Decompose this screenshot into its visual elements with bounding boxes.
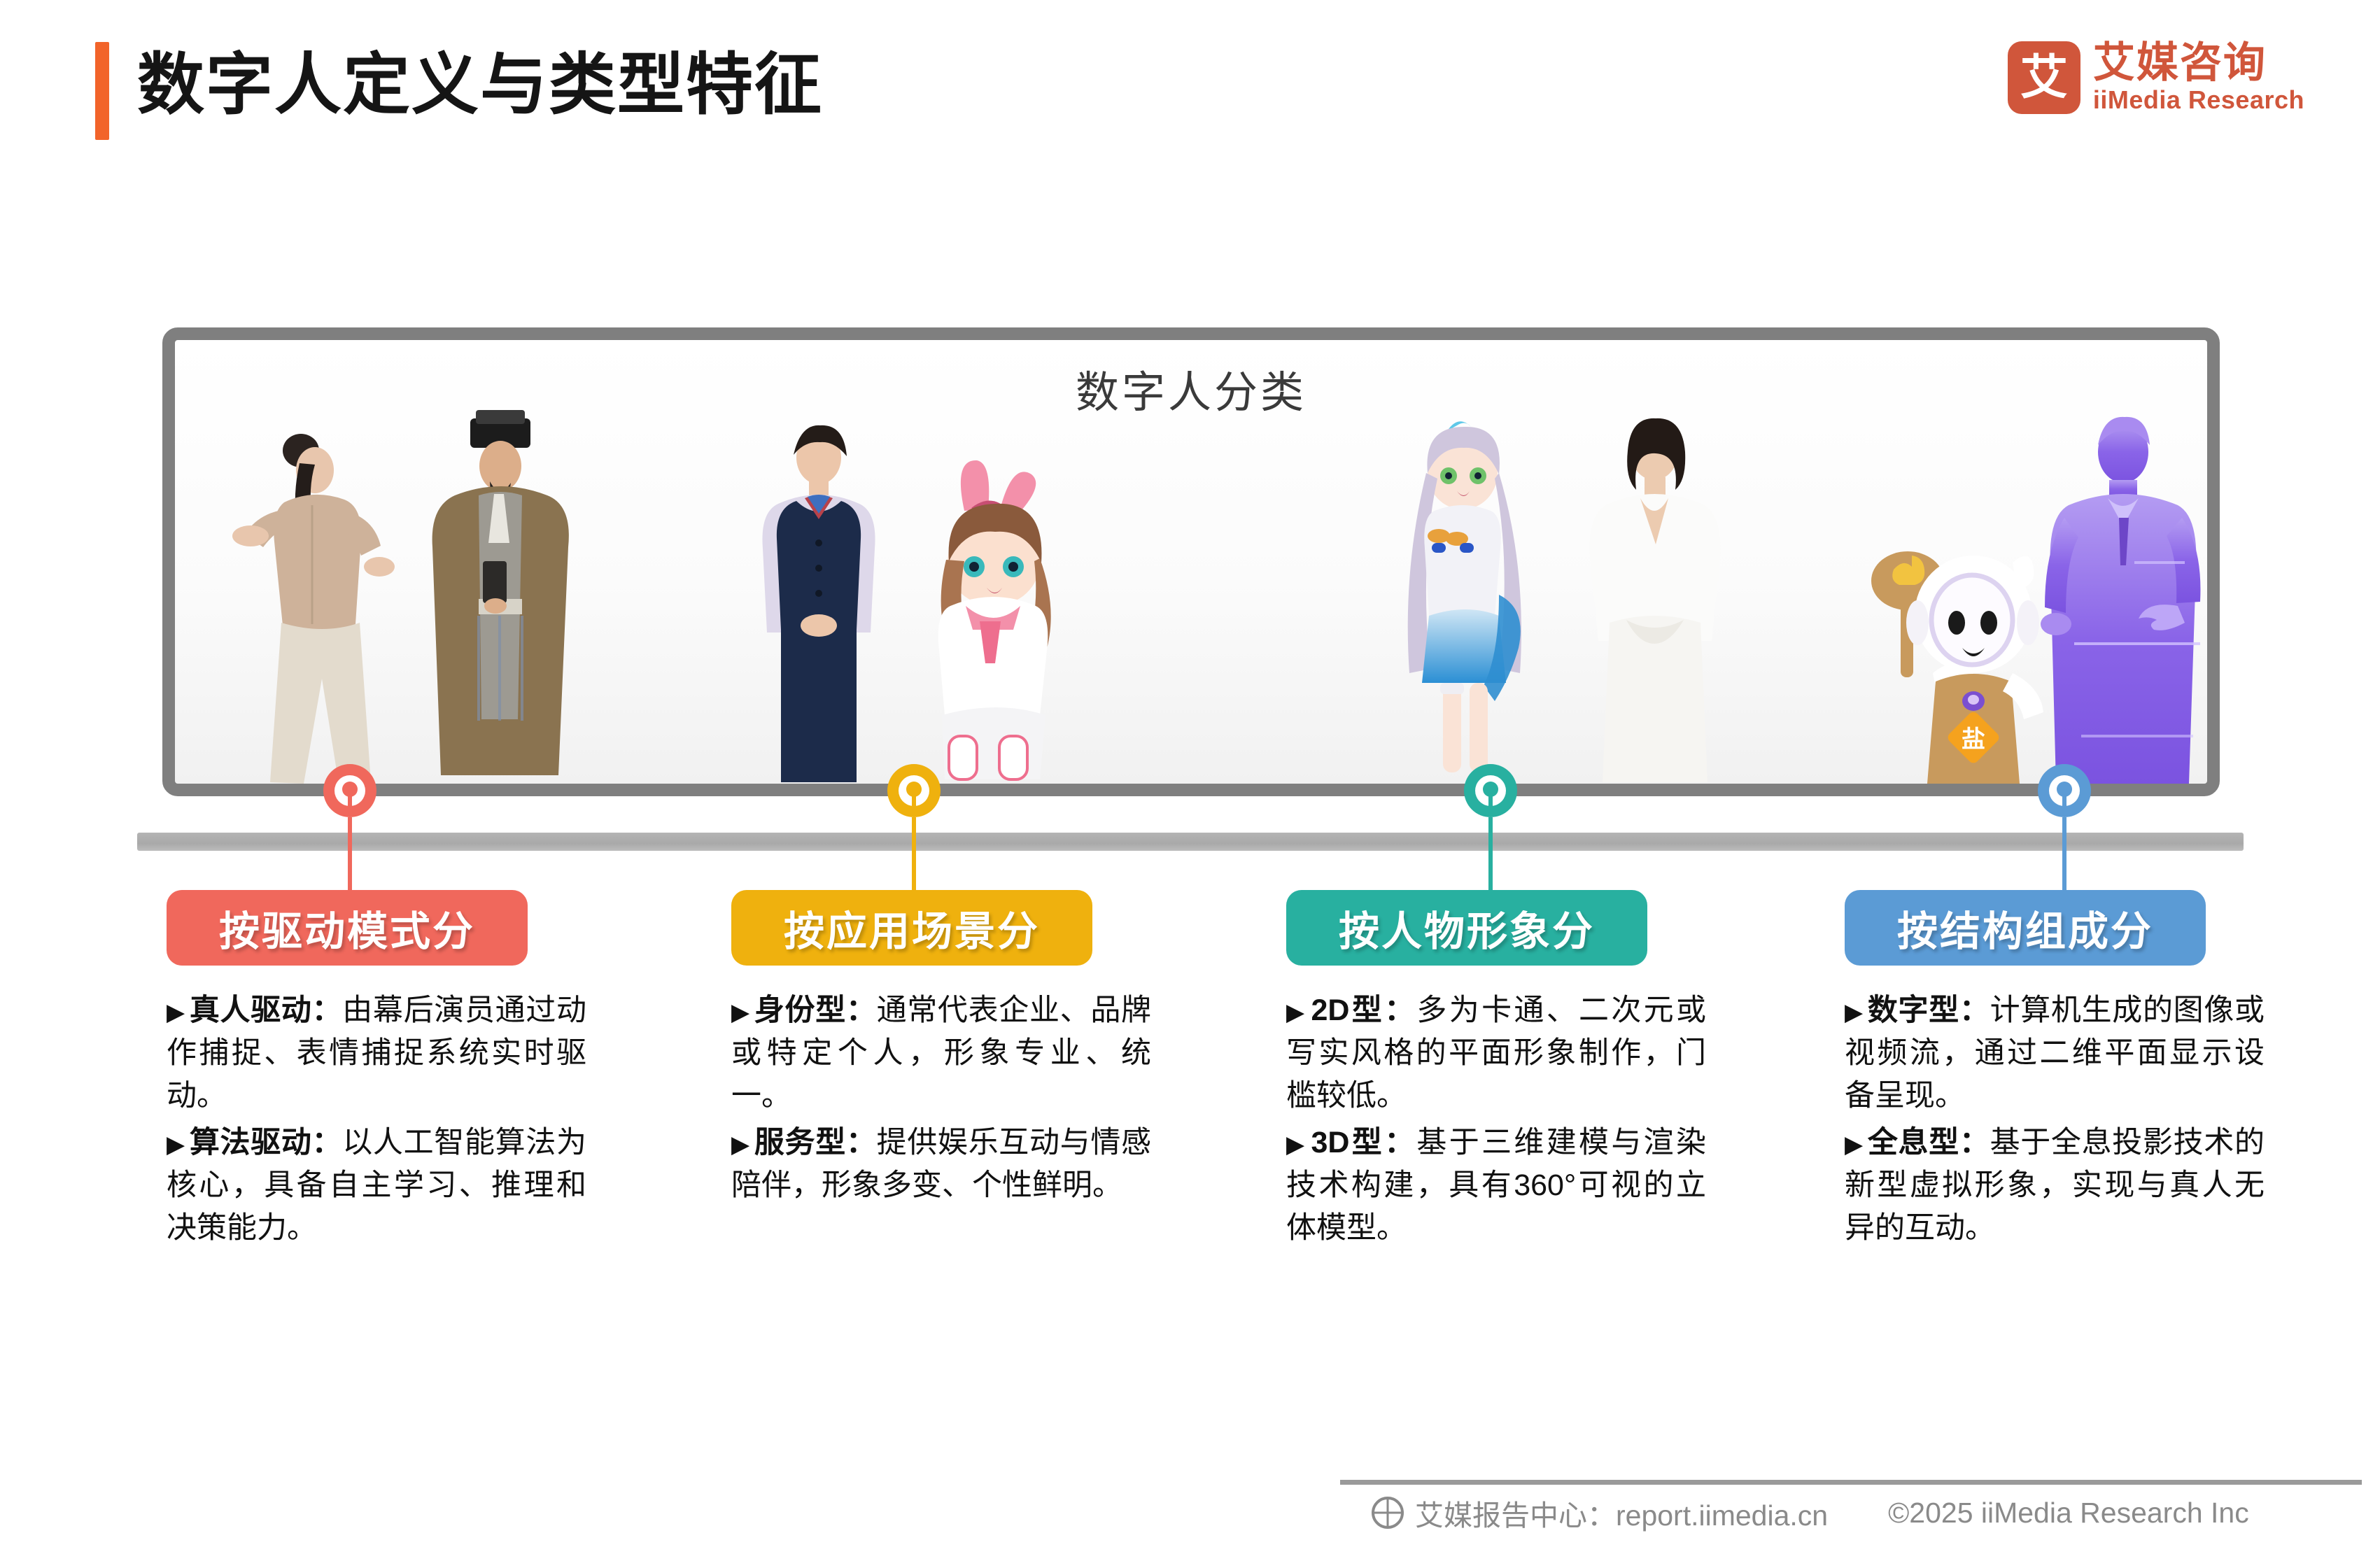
slide-canvas: 数字人定义与类型特征 艾 艾媒咨询 iiMedia Research 数字人分类 [0, 0, 2380, 1547]
bullet-lead: 算法驱动： [190, 1126, 342, 1159]
bullet-lead: 身份型： [754, 994, 877, 1027]
triangle-bullet-icon: ▶ [1845, 999, 1864, 1026]
bullet-lead: 服务型： [754, 1126, 877, 1159]
slide-header: 数字人定义与类型特征 艾 艾媒咨询 iiMedia Research [0, 0, 2380, 189]
marker-appearance[interactable] [1464, 764, 1517, 817]
column-scenario: 按应用场景分 ▶身份型：通常代表企业、品牌或特定个人，形象专业、统一。 ▶服务型… [731, 890, 1151, 1211]
column-label-structure[interactable]: 按结构组成分 [1845, 890, 2206, 966]
stem-drive-mode [348, 817, 352, 905]
column-appearance: 按人物形象分 ▶2D型：多为卡通、二次元或写实风格的平面形象制作，门槛较低。 ▶… [1286, 890, 1706, 1254]
logo-name-cn: 艾媒咨询 [2093, 41, 2304, 86]
logo-mark-icon: 艾 [2008, 41, 2080, 114]
bullet-item: ▶身份型：通常代表企业、品牌或特定个人，形象专业、统一。 [731, 989, 1151, 1117]
triangle-bullet-icon: ▶ [167, 999, 185, 1026]
bullet-item: ▶真人驱动：由幕后演员通过动作捕捉、表情捕捉系统实时驱动。 [167, 989, 586, 1117]
triangle-bullet-icon: ▶ [167, 1131, 185, 1158]
globe-icon [1372, 1497, 1404, 1529]
figure-vocaloid-singer [1365, 406, 1561, 784]
marker-scenario[interactable] [887, 764, 941, 817]
bullet-item: ▶3D型：基于三维建模与渲染技术构建，具有360°可视的立体模型。 [1286, 1122, 1706, 1250]
figure-hologram-businessman [2029, 413, 2211, 784]
figure-realistic-woman [1568, 413, 1742, 784]
bullet-lead: 全息型： [1868, 1126, 1990, 1159]
figure-anime-vtuber [882, 455, 1092, 784]
svg-text:盐: 盐 [1962, 726, 1985, 753]
brand-logo: 艾 艾媒咨询 iiMedia Research [2008, 41, 2304, 114]
column-body-appearance: ▶2D型：多为卡通、二次元或写实风格的平面形象制作，门槛较低。 ▶3D型：基于三… [1286, 989, 1706, 1250]
column-structure: 按结构组成分 ▶数字型：计算机生成的图像或视频流，通过二维平面显示设备呈现。 ▶… [1845, 890, 2265, 1254]
stem-appearance [1488, 817, 1493, 905]
bullet-item: ▶服务型：提供娱乐互动与情感陪伴，形象多变、个性鲜明。 [731, 1122, 1151, 1207]
stem-scenario [912, 817, 916, 905]
triangle-bullet-icon: ▶ [731, 1131, 750, 1158]
column-body-scenario: ▶身份型：通常代表企业、品牌或特定个人，形象专业、统一。 ▶服务型：提供娱乐互动… [731, 989, 1151, 1207]
triangle-bullet-icon: ▶ [1286, 1131, 1307, 1158]
bullet-item: ▶算法驱动：以人工智能算法为核心，具备自主学习、推理和决策能力。 [167, 1122, 586, 1250]
bullet-item: ▶数字型：计算机生成的图像或视频流，通过二维平面显示设备呈现。 [1845, 989, 2265, 1117]
column-label-drive-mode[interactable]: 按驱动模式分 [167, 890, 528, 966]
marker-drive-mode[interactable] [323, 764, 376, 817]
column-label-appearance[interactable]: 按人物形象分 [1286, 890, 1647, 966]
banner-title: 数字人分类 [175, 357, 2207, 420]
column-body-drive-mode: ▶真人驱动：由幕后演员通过动作捕捉、表情捕捉系统实时驱动。 ▶算法驱动：以人工智… [167, 989, 586, 1250]
bullet-lead: 真人驱动： [190, 994, 342, 1027]
footer-divider [1340, 1480, 2362, 1485]
figure-uniform-woman [735, 420, 903, 784]
triangle-bullet-icon: ▶ [731, 999, 750, 1026]
bullet-lead: 2D型： [1311, 994, 1416, 1027]
title-accent-bar [95, 42, 109, 140]
bullet-lead: 3D型： [1311, 1126, 1416, 1159]
triangle-bullet-icon: ▶ [1845, 1131, 1864, 1158]
bullet-item: ▶2D型：多为卡通、二次元或写实风格的平面形象制作，门槛较低。 [1286, 989, 1706, 1117]
figure-ancient-scholar [406, 406, 595, 784]
logo-text: 艾媒咨询 iiMedia Research [2093, 41, 2304, 114]
column-drive-mode: 按驱动模式分 ▶真人驱动：由幕后演员通过动作捕捉、表情捕捉系统实时驱动。 ▶算法… [167, 890, 586, 1254]
column-body-structure: ▶数字型：计算机生成的图像或视频流，通过二维平面显示设备呈现。 ▶全息型：基于全… [1845, 989, 2265, 1250]
digital-human-gallery-banner: 数字人分类 [162, 327, 2220, 796]
timeline-bar [137, 833, 2244, 851]
slide-footer: 艾媒报告中心：report.iimedia.cn ©2025 iiMedia R… [1372, 1492, 2249, 1534]
bullet-item: ▶全息型：基于全息投影技术的新型虚拟形象，实现与真人无异的互动。 [1845, 1122, 2265, 1250]
footer-copyright: ©2025 iiMedia Research Inc [1888, 1497, 2249, 1530]
figure-taiji-woman [217, 427, 406, 784]
logo-name-en: iiMedia Research [2093, 86, 2304, 114]
stem-structure [2062, 817, 2066, 905]
bullet-lead: 数字型： [1868, 994, 1990, 1027]
footer-report-center[interactable]: 艾媒报告中心：report.iimedia.cn [1415, 1492, 1828, 1534]
triangle-bullet-icon: ▶ [1286, 999, 1307, 1026]
page-title: 数字人定义与类型特征 [137, 36, 823, 134]
marker-structure[interactable] [2038, 764, 2091, 817]
